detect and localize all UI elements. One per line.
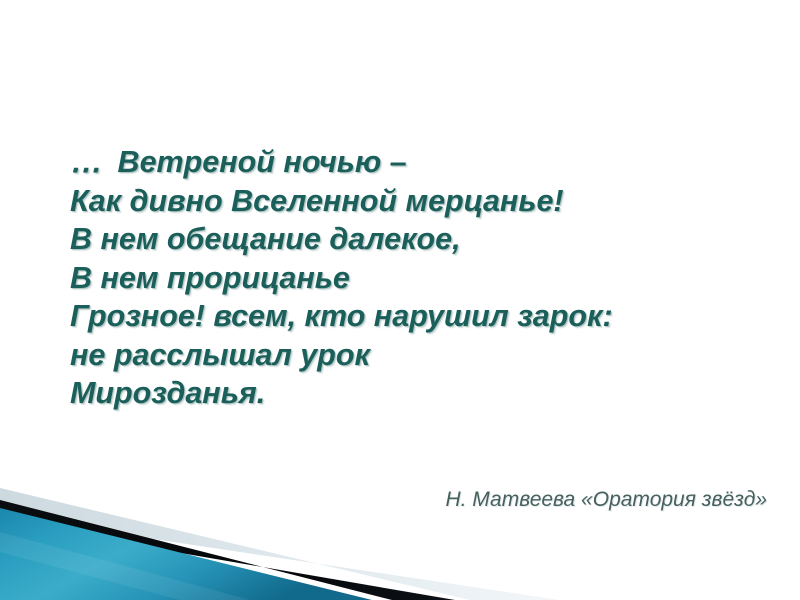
- poem-text-block: ․․․ Ветреной ночью – Как дивно Вселенной…: [70, 143, 760, 413]
- ribbon-dark-band: [0, 500, 455, 600]
- poem-line-2: Как дивно Вселенной мерцанье!: [70, 182, 760, 221]
- poem-line-7: Мирозданья.: [70, 374, 760, 413]
- ribbon-teal-sheen: [0, 532, 250, 600]
- ribbon-teal-band: [0, 508, 372, 600]
- poem-line-3: В нем обещание далекое,: [70, 220, 760, 259]
- poem-line-6: не расслышал урок: [70, 336, 760, 375]
- poem-line-1: ․․․ Ветреной ночью –: [70, 143, 760, 182]
- slide-canvas: ․․․ Ветреной ночью – Как дивно Вселенной…: [0, 0, 800, 600]
- poem-line-4: В нем прорицанье: [70, 259, 760, 298]
- poem-line-5: Грозное! всем, кто нарушил зарок:: [70, 297, 760, 336]
- attribution-text: Н. Матвеева «Оратория звёзд»: [445, 487, 767, 513]
